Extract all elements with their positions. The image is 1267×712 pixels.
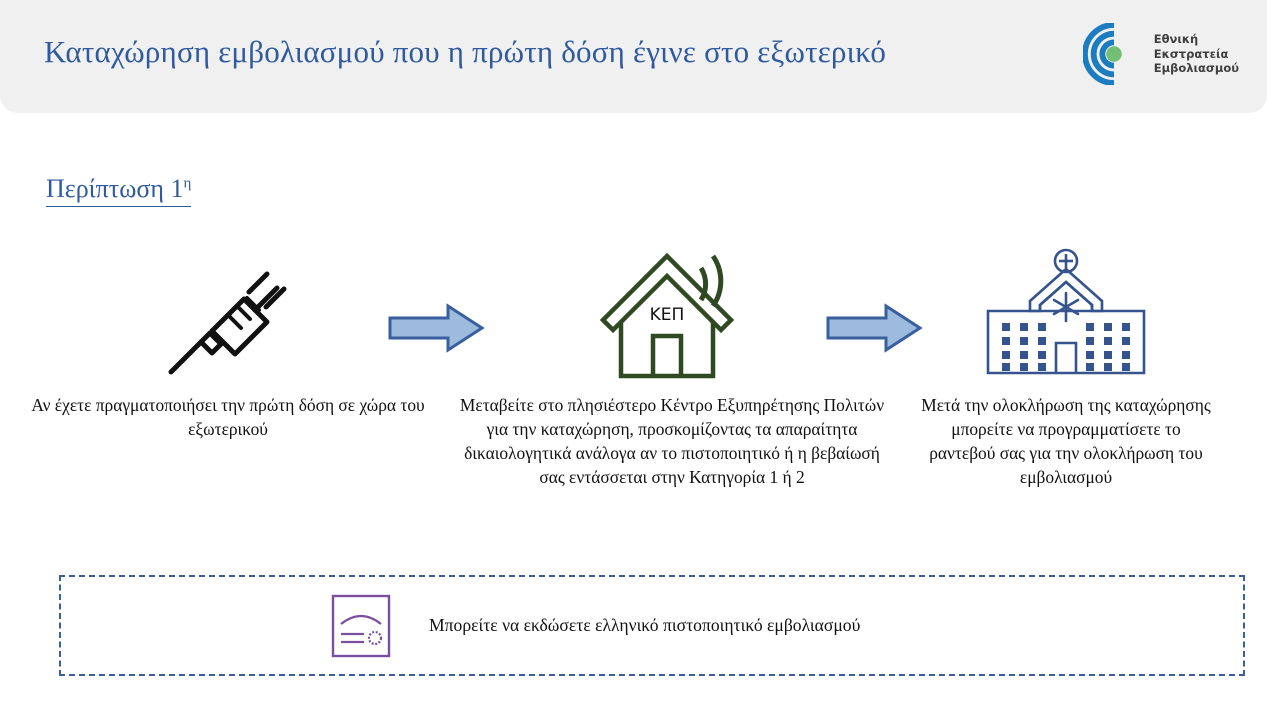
- flow-step-1-icon-wrap: [28, 245, 428, 385]
- case-heading: Περίπτωση 1η: [46, 174, 191, 207]
- flow-step-1-text: Αν έχετε πραγματοποιήσει την πρώτη δόση …: [28, 393, 428, 441]
- kep-house-icon: ΚΕΠ: [597, 248, 747, 383]
- page-header-band: Καταχώρηση εμβολιασμού που η πρώτη δόση …: [0, 0, 1267, 113]
- flow-step-3: Μετά την ολοκλήρωση της καταχώρησης μπορ…: [920, 245, 1212, 489]
- kep-house-label: ΚΕΠ: [650, 305, 685, 325]
- hospital-icon: [976, 245, 1156, 385]
- arrow-right-icon-2: [824, 300, 924, 356]
- flow-step-3-text: Μετά την ολοκλήρωση της καταχώρησης μπορ…: [920, 393, 1212, 489]
- certificate-callout: Μπορείτε να εκδώσετε ελληνικό πιστοποιητ…: [59, 575, 1245, 676]
- case-heading-label: Περίπτωση 1: [46, 174, 183, 203]
- flow-step-2: ΚΕΠ Μεταβείτε στο πλησιέστερο Κέντρο Εξυ…: [452, 245, 892, 489]
- logo-arcs-icon: [1083, 23, 1145, 85]
- certificate-icon: [331, 594, 391, 658]
- logo-text-block: Εθνική Εκστρατεία Εμβολιασμού: [1154, 32, 1239, 76]
- case-heading-suffix: η: [183, 175, 191, 191]
- process-flow: Αν έχετε πραγματοποιήσει την πρώτη δόση …: [0, 245, 1267, 535]
- flow-step-1: Αν έχετε πραγματοποιήσει την πρώτη δόση …: [28, 245, 428, 441]
- flow-step-2-text: Μεταβείτε στο πλησιέστερο Κέντρο Εξυπηρέ…: [452, 393, 892, 489]
- flow-step-3-icon-wrap: [920, 245, 1212, 385]
- logo-line-3: Εμβολιασμού: [1154, 61, 1239, 76]
- syringe-icon: [163, 250, 293, 380]
- logo-line-2: Εκστρατεία: [1154, 47, 1239, 62]
- brand-logo: Εθνική Εκστρατεία Εμβολιασμού: [1083, 23, 1239, 85]
- certificate-callout-text: Μπορείτε να εκδώσετε ελληνικό πιστοποιητ…: [429, 615, 860, 636]
- page-title: Καταχώρηση εμβολιασμού που η πρώτη δόση …: [44, 34, 886, 70]
- logo-line-1: Εθνική: [1154, 32, 1239, 47]
- logo-center-dot: [1106, 46, 1122, 62]
